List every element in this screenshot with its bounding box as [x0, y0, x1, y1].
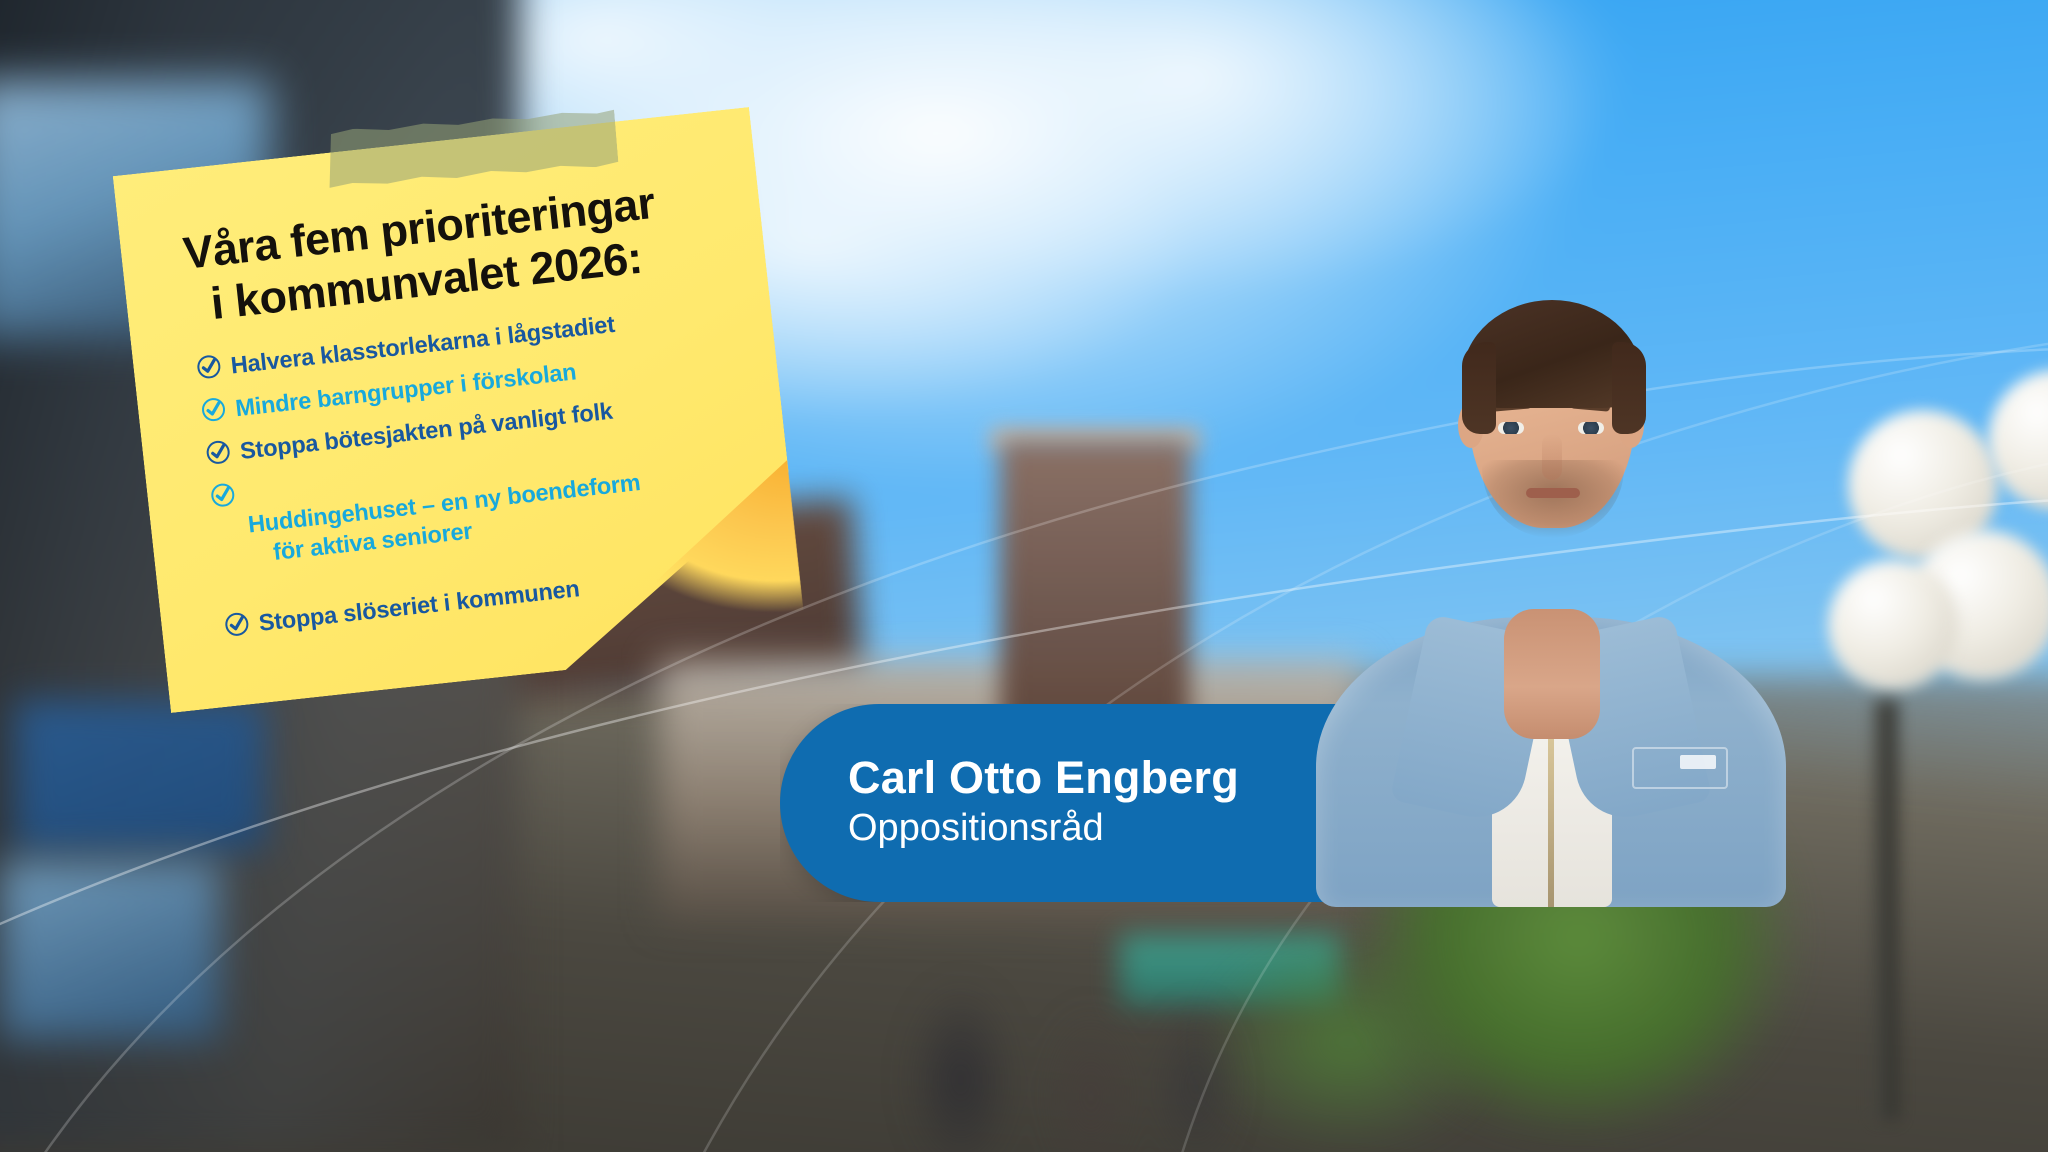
priorities-sticky-note: Våra fem prioriteringar i kommunvalet 20…	[113, 107, 808, 713]
note-content: Våra fem prioriteringar i kommunvalet 20…	[181, 169, 762, 654]
check-circle-icon	[199, 396, 228, 432]
pedestrians	[860, 912, 1280, 1152]
check-circle-icon	[204, 438, 233, 474]
jacket-brand-tag	[1680, 755, 1716, 769]
check-circle-icon	[209, 481, 238, 517]
eye-left	[1498, 422, 1524, 434]
shop-sign-upper	[15, 700, 265, 850]
mouth	[1526, 488, 1580, 498]
eye-right	[1578, 422, 1604, 434]
hair-side-left	[1462, 342, 1496, 434]
jacket-zipper	[1548, 717, 1554, 907]
lamp-post	[1874, 700, 1898, 1120]
priorities-list: Halvera klasstorlekarna i lågstadiet Min…	[194, 296, 760, 645]
check-circle-icon	[195, 353, 224, 389]
neck	[1504, 609, 1600, 739]
check-circle-icon	[222, 610, 251, 646]
hair-side-right	[1612, 342, 1646, 434]
tower-building	[1000, 440, 1190, 740]
shop-sign-lower	[0, 860, 220, 1040]
nose	[1542, 434, 1562, 480]
campaign-poster: Våra fem prioriteringar i kommunvalet 20…	[0, 0, 2048, 1152]
portrait-photo	[1316, 282, 1786, 907]
